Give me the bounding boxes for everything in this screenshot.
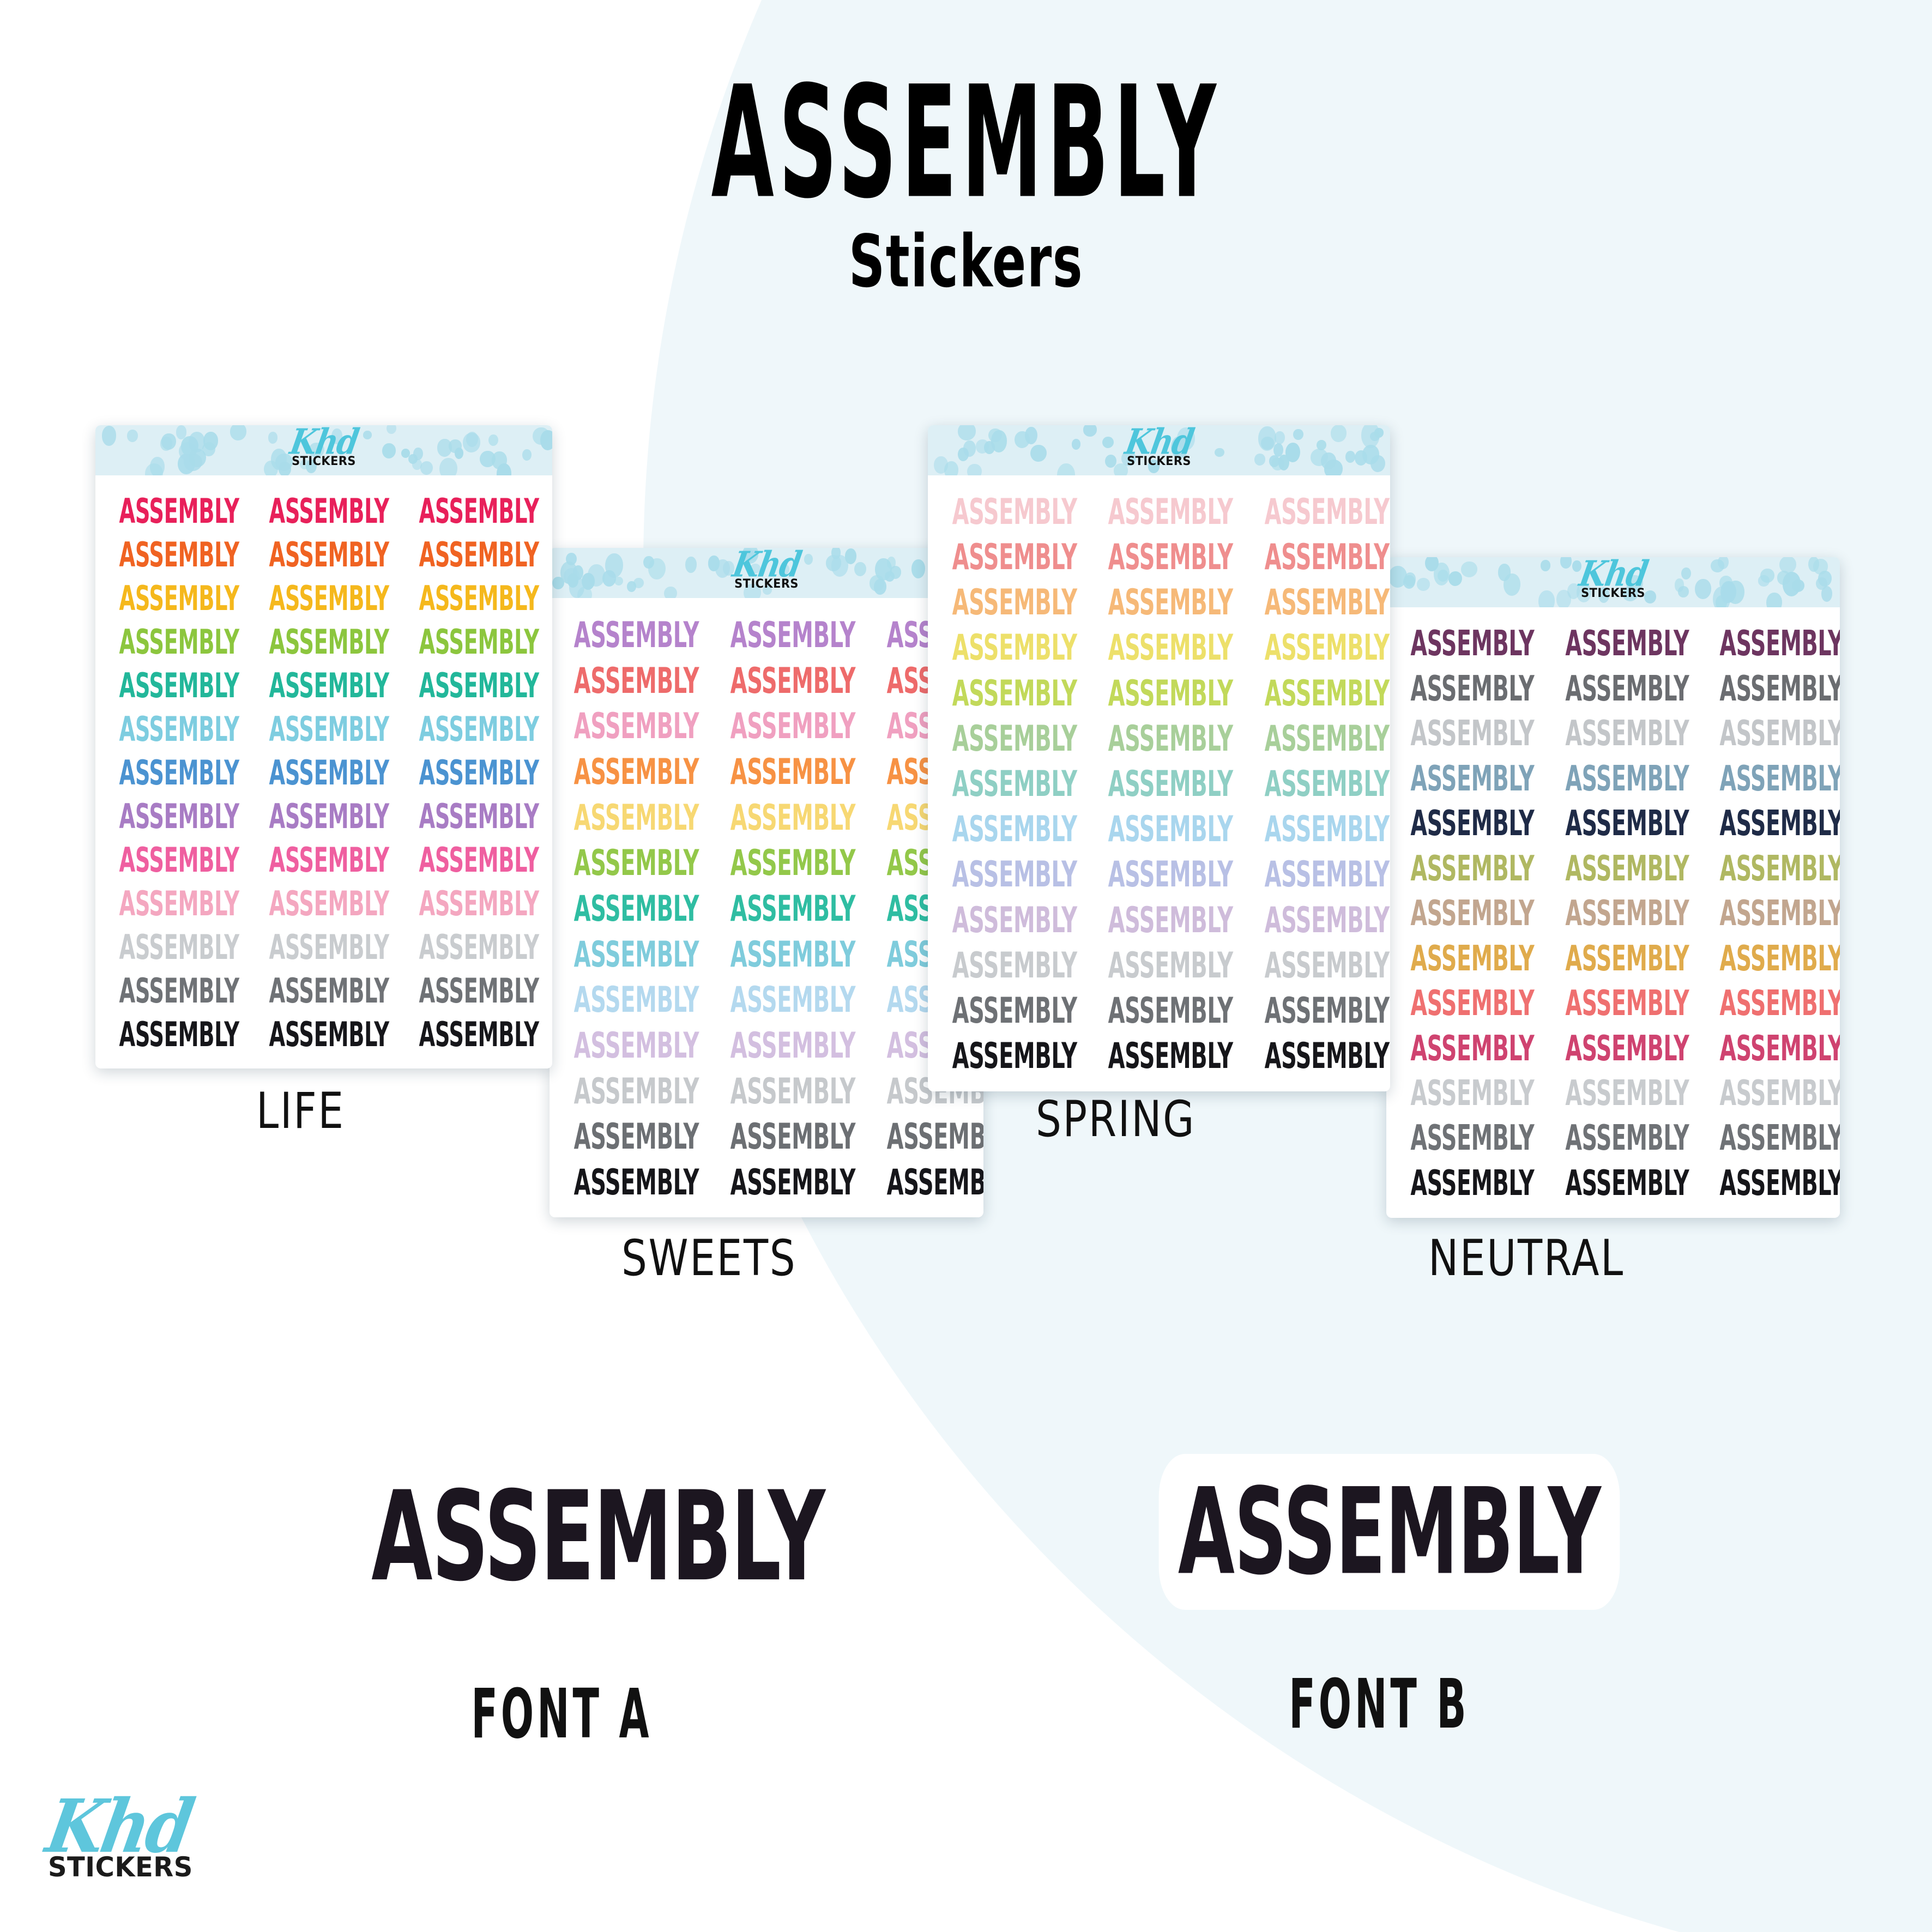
dot-decoration bbox=[685, 557, 697, 573]
sticker-label[interactable]: ASSEMBLY bbox=[1720, 986, 1840, 1021]
dot-decoration bbox=[1254, 454, 1265, 466]
dot-decoration bbox=[230, 425, 247, 440]
sticker-label[interactable]: ASSEMBLY bbox=[419, 494, 539, 528]
dot-decoration bbox=[984, 441, 995, 454]
sticker-label[interactable]: ASSEMBLY bbox=[1720, 1166, 1840, 1200]
sticker-label[interactable]: ASSEMBLY bbox=[1410, 672, 1534, 707]
sticker-label[interactable]: ASSEMBLY bbox=[952, 948, 1077, 983]
sticker-sheet-spring[interactable]: KhdSTICKERSASSEMBLYASSEMBLYASSEMBLYASSEM… bbox=[928, 425, 1390, 1091]
sticker-label[interactable]: ASSEMBLY bbox=[952, 1039, 1077, 1074]
sticker-label[interactable]: ASSEMBLY bbox=[119, 974, 239, 1008]
sticker-label[interactable]: ASSEMBLY bbox=[1410, 1166, 1534, 1200]
dot-decoration bbox=[189, 432, 205, 452]
sticker-label[interactable]: ASSEMBLY bbox=[119, 582, 239, 615]
sticker-label[interactable]: ASSEMBLY bbox=[1264, 903, 1389, 938]
sheet-sticker-grid: ASSEMBLYASSEMBLYASSEMBLYASSEMBLYASSEMBLY… bbox=[95, 475, 552, 1068]
sticker-row-periwinkle[interactable]: ASSEMBLYASSEMBLYASSEMBLYASSEMBLY bbox=[937, 853, 1381, 898]
sticker-label[interactable]: ASSEMBLY bbox=[419, 843, 539, 877]
brand-wordmark: STICKERS bbox=[48, 1851, 193, 1883]
sticker-row-aqua[interactable]: ASSEMBLYASSEMBLYASSEMBLYASSEMBLY bbox=[558, 932, 975, 977]
sticker-row-taupe[interactable]: ASSEMBLYASSEMBLYASSEMBLYASSEMBLY bbox=[1395, 891, 1831, 936]
dot-decoration bbox=[1777, 571, 1791, 585]
sticker-label[interactable]: ASSEMBLY bbox=[1108, 721, 1233, 757]
sticker-label[interactable]: ASSEMBLY bbox=[574, 1119, 699, 1155]
sticker-label[interactable]: ASSEMBLY bbox=[730, 709, 855, 744]
dot-decoration bbox=[1102, 437, 1114, 448]
sticker-row-berry[interactable]: ASSEMBLYASSEMBLYASSEMBLYASSEMBLY bbox=[1395, 1026, 1831, 1071]
sticker-label[interactable]: ASSEMBLY bbox=[1565, 941, 1689, 976]
sticker-label[interactable]: ASSEMBLY bbox=[574, 617, 699, 653]
dot-decoration bbox=[1678, 586, 1689, 597]
dot-decoration bbox=[437, 439, 452, 457]
sticker-label[interactable]: ASSEMBLY bbox=[269, 931, 389, 964]
sticker-label[interactable]: ASSEMBLY bbox=[1108, 903, 1233, 938]
sticker-row-spring-green[interactable]: ASSEMBLYASSEMBLYASSEMBLYASSEMBLY bbox=[937, 671, 1381, 716]
sticker-label[interactable]: ASSEMBLY bbox=[1565, 851, 1689, 886]
dot-decoration bbox=[1275, 431, 1285, 444]
sticker-label[interactable]: ASSEMBLY bbox=[119, 625, 239, 659]
sticker-label[interactable]: ASSEMBLY bbox=[1720, 941, 1840, 976]
sticker-label[interactable]: ASSEMBLY bbox=[730, 1119, 855, 1155]
sticker-label[interactable]: ASSEMBLY bbox=[1108, 1039, 1233, 1074]
sticker-label[interactable]: ASSEMBLY bbox=[1720, 1076, 1840, 1111]
dot-decoration bbox=[605, 553, 623, 578]
sticker-label[interactable]: ASSEMBLY bbox=[1565, 986, 1689, 1021]
dot-decoration bbox=[911, 559, 925, 578]
sticker-label[interactable]: ASSEMBLY bbox=[1410, 806, 1534, 841]
sticker-row-plum[interactable]: ASSEMBLYASSEMBLYASSEMBLYASSEMBLY bbox=[1395, 621, 1831, 666]
dot-decoration bbox=[1681, 567, 1690, 579]
sticker-row-mint[interactable]: ASSEMBLYASSEMBLYASSEMBLYASSEMBLY bbox=[937, 762, 1381, 807]
sticker-label[interactable]: ASSEMBLY bbox=[1410, 1031, 1534, 1066]
sticker-row-violet[interactable]: ASSEMBLYASSEMBLYASSEMBLYASSEMBLY bbox=[104, 795, 544, 838]
sticker-label[interactable]: ASSEMBLY bbox=[1720, 1121, 1840, 1156]
sticker-label[interactable]: ASSEMBLY bbox=[1565, 896, 1689, 931]
sheet-caption-spring: SPRING bbox=[1036, 1090, 1196, 1148]
sticker-label[interactable]: ASSEMBLY bbox=[419, 974, 539, 1008]
dot-decoration bbox=[1030, 445, 1046, 462]
sticker-label[interactable]: ASSEMBLY bbox=[1108, 994, 1233, 1029]
sticker-label[interactable]: ASSEMBLY bbox=[952, 676, 1077, 711]
dot-decoration bbox=[741, 548, 754, 562]
sticker-label[interactable]: ASSEMBLY bbox=[1720, 1031, 1840, 1066]
sticker-label[interactable]: ASSEMBLY bbox=[119, 494, 239, 528]
dot-decoration bbox=[488, 434, 498, 446]
dot-decoration bbox=[1560, 557, 1572, 569]
sticker-row-wisteria[interactable]: ASSEMBLYASSEMBLYASSEMBLYASSEMBLY bbox=[937, 898, 1381, 943]
sticker-label[interactable]: ASSEMBLY bbox=[730, 800, 855, 835]
sticker-label[interactable]: ASSEMBLY bbox=[1108, 540, 1233, 575]
sticker-row-black[interactable]: ASSEMBLYASSEMBLYASSEMBLYASSEMBLY bbox=[558, 1160, 975, 1205]
sticker-label[interactable]: ASSEMBLY bbox=[269, 1018, 389, 1052]
sticker-row-pink[interactable]: ASSEMBLYASSEMBLYASSEMBLYASSEMBLY bbox=[104, 838, 544, 882]
sticker-label[interactable]: ASSEMBLY bbox=[730, 617, 855, 653]
sticker-sheet-life[interactable]: KhdSTICKERSASSEMBLYASSEMBLYASSEMBLYASSEM… bbox=[95, 425, 552, 1068]
sticker-label[interactable]: ASSEMBLY bbox=[1410, 986, 1534, 1021]
sticker-label[interactable]: ASSEMBLY bbox=[574, 754, 699, 789]
dot-decoration bbox=[845, 548, 856, 564]
sticker-label[interactable]: ASSEMBLY bbox=[730, 1073, 855, 1109]
dot-decoration bbox=[387, 425, 396, 434]
dot-decoration bbox=[967, 464, 982, 475]
sticker-label[interactable]: ASSEMBLY bbox=[1720, 626, 1840, 661]
dot-decoration bbox=[455, 448, 463, 460]
dot-decoration bbox=[1766, 593, 1782, 607]
sheet-header-band: KhdSTICKERS bbox=[1386, 557, 1840, 607]
poster-header: ASSEMBLY Stickers bbox=[0, 65, 1932, 294]
sticker-label[interactable]: ASSEMBLY bbox=[730, 1028, 855, 1064]
sticker-label[interactable]: ASSEMBLY bbox=[1565, 1031, 1689, 1066]
dot-decoration bbox=[763, 585, 772, 595]
sticker-label[interactable]: ASSEMBLY bbox=[119, 1018, 239, 1052]
sticker-label[interactable]: ASSEMBLY bbox=[1720, 716, 1840, 751]
sticker-row-mid-gray[interactable]: ASSEMBLYASSEMBLYASSEMBLYASSEMBLY bbox=[937, 988, 1381, 1034]
sticker-row-charcoal[interactable]: ASSEMBLYASSEMBLYASSEMBLYASSEMBLY bbox=[1395, 666, 1831, 711]
sticker-label[interactable]: ASSEMBLY bbox=[419, 1018, 539, 1052]
sheet-header-band: KhdSTICKERS bbox=[550, 548, 983, 598]
sticker-label[interactable]: ASSEMBLY bbox=[419, 713, 539, 746]
sticker-row-black[interactable]: ASSEMBLYASSEMBLYASSEMBLYASSEMBLY bbox=[937, 1034, 1381, 1079]
sticker-row-coral-red[interactable]: ASSEMBLYASSEMBLYASSEMBLYASSEMBLY bbox=[558, 658, 975, 704]
sticker-row-salmon[interactable]: ASSEMBLYASSEMBLYASSEMBLYASSEMBLY bbox=[937, 535, 1381, 580]
sticker-label[interactable]: ASSEMBLY bbox=[574, 663, 699, 698]
sticker-label[interactable]: ASSEMBLY bbox=[1410, 1121, 1534, 1156]
sticker-label[interactable]: ASSEMBLY bbox=[952, 721, 1077, 757]
sticker-label[interactable]: ASSEMBLY bbox=[269, 669, 389, 703]
sheet-header-band: KhdSTICKERS bbox=[95, 425, 552, 475]
sticker-row-orchid[interactable]: ASSEMBLYASSEMBLYASSEMBLYASSEMBLY bbox=[558, 612, 975, 658]
sticker-label[interactable]: ASSEMBLY bbox=[269, 887, 389, 921]
dot-decoration bbox=[1448, 571, 1462, 586]
sticker-label[interactable]: ASSEMBLY bbox=[952, 540, 1077, 575]
sticker-row-crimson[interactable]: ASSEMBLYASSEMBLYASSEMBLYASSEMBLY bbox=[104, 490, 544, 533]
sticker-label[interactable]: ASSEMBLY bbox=[1720, 806, 1840, 841]
sticker-label[interactable]: ASSEMBLY bbox=[419, 887, 539, 921]
dot-decoration bbox=[723, 561, 734, 576]
dot-decoration bbox=[1331, 425, 1347, 442]
dot-decoration bbox=[569, 577, 584, 597]
sticker-label[interactable]: ASSEMBLY bbox=[574, 800, 699, 835]
sticker-label[interactable]: ASSEMBLY bbox=[574, 982, 699, 1018]
sticker-label[interactable]: ASSEMBLY bbox=[1565, 1166, 1689, 1200]
sticker-label[interactable]: ASSEMBLY bbox=[419, 582, 539, 615]
sticker-label[interactable]: ASSEMBLY bbox=[269, 625, 389, 659]
sticker-row-slate-gray[interactable]: ASSEMBLYASSEMBLYASSEMBLYASSEMBLY bbox=[558, 1114, 975, 1160]
dot-decoration bbox=[1626, 575, 1643, 591]
brand-wordmark: STICKERS bbox=[1398, 587, 1828, 600]
dot-decoration bbox=[1215, 448, 1224, 457]
sticker-label[interactable]: ASSEMBLY bbox=[730, 891, 855, 926]
sticker-row-pale-gray[interactable]: ASSEMBLYASSEMBLYASSEMBLYASSEMBLY bbox=[1395, 1071, 1831, 1116]
dot-decoration bbox=[1792, 579, 1805, 592]
dot-decoration bbox=[127, 430, 138, 442]
sticker-row-amber[interactable]: ASSEMBLYASSEMBLYASSEMBLYASSEMBLY bbox=[104, 577, 544, 620]
sticker-label[interactable]: ASSEMBLY bbox=[730, 937, 855, 972]
sheet-caption-sweets: SWEETS bbox=[621, 1229, 796, 1287]
sticker-label[interactable]: ASSEMBLY bbox=[1264, 1039, 1389, 1074]
sticker-sheet-neutral[interactable]: KhdSTICKERSASSEMBLYASSEMBLYASSEMBLYASSEM… bbox=[1386, 557, 1840, 1218]
sticker-label[interactable]: ASSEMBLY bbox=[574, 846, 699, 881]
sticker-row-butter[interactable]: ASSEMBLYASSEMBLYASSEMBLYASSEMBLY bbox=[558, 795, 975, 841]
sticker-label[interactable]: ASSEMBLY bbox=[419, 756, 539, 790]
sticker-label[interactable]: ASSEMBLY bbox=[1264, 631, 1389, 666]
brand-script-logo: Khd bbox=[43, 1796, 196, 1858]
sticker-row-navy[interactable]: ASSEMBLYASSEMBLYASSEMBLYASSEMBLY bbox=[1395, 801, 1831, 846]
dot-decoration bbox=[1598, 587, 1610, 603]
sticker-label[interactable]: ASSEMBLY bbox=[1264, 585, 1389, 621]
dot-decoration bbox=[664, 587, 677, 598]
dot-decoration bbox=[804, 554, 813, 565]
sticker-row-sage[interactable]: ASSEMBLYASSEMBLYASSEMBLYASSEMBLY bbox=[937, 716, 1381, 762]
sheet-sticker-grid: ASSEMBLYASSEMBLYASSEMBLYASSEMBLYASSEMBLY… bbox=[928, 475, 1390, 1091]
sticker-row-baby-blue[interactable]: ASSEMBLYASSEMBLYASSEMBLYASSEMBLY bbox=[937, 807, 1381, 853]
dot-decoration bbox=[1808, 557, 1819, 572]
sticker-label[interactable]: ASSEMBLY bbox=[419, 538, 539, 572]
sticker-label[interactable]: ASSEMBLY bbox=[1410, 716, 1534, 751]
sticker-label[interactable]: ASSEMBLY bbox=[952, 631, 1077, 666]
dot-decoration bbox=[1171, 436, 1188, 458]
sticker-label[interactable]: ASSEMBLY bbox=[119, 931, 239, 964]
sticker-row-ash[interactable]: ASSEMBLYASSEMBLYASSEMBLYASSEMBLY bbox=[1395, 711, 1831, 756]
sticker-label[interactable]: ASSEMBLY bbox=[952, 766, 1077, 802]
dot-decoration bbox=[958, 425, 976, 440]
sticker-row-blue[interactable]: ASSEMBLYASSEMBLYASSEMBLYASSEMBLY bbox=[104, 751, 544, 795]
sticker-row-mustard[interactable]: ASSEMBLYASSEMBLYASSEMBLYASSEMBLY bbox=[1395, 936, 1831, 981]
sticker-label[interactable]: ASSEMBLY bbox=[1720, 672, 1840, 707]
sticker-label[interactable]: ASSEMBLY bbox=[269, 800, 389, 834]
sticker-label[interactable]: ASSEMBLY bbox=[1565, 1076, 1689, 1111]
sticker-label[interactable]: ASSEMBLY bbox=[1720, 851, 1840, 886]
sticker-label[interactable]: ASSEMBLY bbox=[1565, 672, 1689, 707]
sheet-header-band: KhdSTICKERS bbox=[928, 425, 1390, 475]
sticker-label[interactable]: ASSEMBLY bbox=[1565, 1121, 1689, 1156]
dot-decoration bbox=[1498, 564, 1511, 581]
dot-decoration bbox=[268, 432, 277, 443]
sticker-label[interactable]: ASSEMBLY bbox=[1264, 812, 1389, 848]
sticker-label[interactable]: ASSEMBLY bbox=[574, 1028, 699, 1064]
dot-decoration bbox=[1355, 450, 1367, 466]
sheet-sticker-grid: ASSEMBLYASSEMBLYASSEMBLYASSEMBLYASSEMBLY… bbox=[550, 598, 983, 1217]
sticker-row-tangerine[interactable]: ASSEMBLYASSEMBLYASSEMBLYASSEMBLY bbox=[558, 749, 975, 795]
sticker-label[interactable]: ASSEMBLY bbox=[886, 1119, 983, 1155]
sticker-label[interactable]: ASSEMBLY bbox=[730, 846, 855, 881]
sticker-label[interactable]: ASSEMBLY bbox=[1108, 948, 1233, 983]
dot-decoration bbox=[744, 584, 761, 598]
sticker-label[interactable]: ASSEMBLY bbox=[119, 669, 239, 703]
sticker-row-orange[interactable]: ASSEMBLYASSEMBLYASSEMBLYASSEMBLY bbox=[104, 533, 544, 577]
sticker-label[interactable]: ASSEMBLY bbox=[1410, 626, 1534, 661]
sticker-row-peach[interactable]: ASSEMBLYASSEMBLYASSEMBLYASSEMBLY bbox=[937, 580, 1381, 625]
dot-decoration bbox=[1538, 590, 1555, 607]
dot-decoration bbox=[540, 430, 552, 450]
dot-decoration bbox=[1572, 560, 1581, 572]
sticker-row-gray[interactable]: ASSEMBLYASSEMBLYASSEMBLYASSEMBLY bbox=[104, 969, 544, 1013]
sticker-label[interactable]: ASSEMBLY bbox=[1108, 585, 1233, 621]
dot-decoration bbox=[1718, 557, 1729, 569]
sticker-label[interactable]: ASSEMBLY bbox=[952, 585, 1077, 621]
dot-decoration bbox=[279, 462, 291, 475]
sheet-caption-neutral: NEUTRAL bbox=[1428, 1229, 1625, 1287]
page-title: ASSEMBLY bbox=[367, 65, 1565, 220]
sticker-label[interactable]: ASSEMBLY bbox=[419, 625, 539, 659]
sticker-label[interactable]: ASSEMBLY bbox=[419, 931, 539, 964]
sticker-row-lemon[interactable]: ASSEMBLYASSEMBLYASSEMBLYASSEMBLY bbox=[937, 626, 1381, 671]
sticker-row-black[interactable]: ASSEMBLYASSEMBLYASSEMBLYASSEMBLY bbox=[104, 1013, 544, 1056]
dot-decoration bbox=[1105, 455, 1116, 468]
brand-wordmark: STICKERS bbox=[107, 455, 541, 468]
sticker-label[interactable]: ASSEMBLY bbox=[269, 974, 389, 1008]
sticker-label[interactable]: ASSEMBLY bbox=[1410, 761, 1534, 796]
sticker-row-powder-blue[interactable]: ASSEMBLYASSEMBLYASSEMBLYASSEMBLY bbox=[558, 977, 975, 1023]
dot-decoration bbox=[781, 564, 789, 575]
sticker-label[interactable]: ASSEMBLY bbox=[1565, 806, 1689, 841]
sticker-row-teal[interactable]: ASSEMBLYASSEMBLYASSEMBLYASSEMBLY bbox=[104, 664, 544, 708]
sticker-label[interactable]: ASSEMBLY bbox=[419, 800, 539, 834]
sticker-label[interactable]: ASSEMBLY bbox=[952, 858, 1077, 893]
sticker-label[interactable]: ASSEMBLY bbox=[119, 887, 239, 921]
sticker-label[interactable]: ASSEMBLY bbox=[730, 1165, 855, 1200]
sticker-label[interactable]: ASSEMBLY bbox=[730, 982, 855, 1018]
sticker-label[interactable]: ASSEMBLY bbox=[1410, 941, 1534, 976]
sticker-label[interactable]: ASSEMBLY bbox=[1108, 676, 1233, 711]
dot-decoration bbox=[1374, 428, 1384, 437]
sticker-label[interactable]: ASSEMBLY bbox=[119, 538, 239, 572]
sticker-label[interactable]: ASSEMBLY bbox=[1108, 631, 1233, 666]
dot-decoration bbox=[1293, 429, 1303, 440]
sticker-label[interactable]: ASSEMBLY bbox=[574, 709, 699, 744]
sticker-label[interactable]: ASSEMBLY bbox=[1264, 676, 1389, 711]
sticker-row-lilac[interactable]: ASSEMBLYASSEMBLYASSEMBLYASSEMBLY bbox=[558, 1023, 975, 1068]
sticker-label[interactable]: ASSEMBLY bbox=[1264, 721, 1389, 757]
sticker-label[interactable]: ASSEMBLY bbox=[574, 1165, 699, 1200]
sticker-row-silver[interactable]: ASSEMBLYASSEMBLYASSEMBLYASSEMBLY bbox=[104, 926, 544, 969]
sticker-label[interactable]: ASSEMBLY bbox=[269, 494, 389, 528]
sticker-row-apple[interactable]: ASSEMBLYASSEMBLYASSEMBLYASSEMBLY bbox=[558, 840, 975, 886]
sticker-label[interactable]: ASSEMBLY bbox=[419, 669, 539, 703]
sticker-label[interactable]: ASSEMBLY bbox=[1565, 761, 1689, 796]
sticker-label[interactable]: ASSEMBLY bbox=[952, 812, 1077, 848]
sticker-label[interactable]: ASSEMBLY bbox=[119, 800, 239, 834]
sticker-label[interactable]: ASSEMBLY bbox=[119, 843, 239, 877]
sticker-label[interactable]: ASSEMBLY bbox=[1108, 812, 1233, 848]
poster-canvas: ASSEMBLY Stickers KhdSTICKERSASSEMBLYASS… bbox=[0, 0, 1932, 1932]
sticker-label[interactable]: ASSEMBLY bbox=[1108, 494, 1233, 530]
font-sample-a: ASSEMBLY FONT A bbox=[283, 1472, 840, 1744]
dot-decoration bbox=[1818, 571, 1832, 587]
sticker-row-light-gray[interactable]: ASSEMBLYASSEMBLYASSEMBLYASSEMBLY bbox=[937, 943, 1381, 988]
dot-decoration bbox=[750, 564, 760, 573]
dot-decoration bbox=[1321, 452, 1336, 469]
dot-decoration bbox=[408, 454, 418, 464]
sticker-row-steel-blue[interactable]: ASSEMBLYASSEMBLYASSEMBLYASSEMBLY bbox=[1395, 756, 1831, 801]
dot-decoration bbox=[1541, 560, 1551, 571]
sticker-label[interactable]: ASSEMBLY bbox=[886, 1165, 983, 1200]
sticker-label[interactable]: ASSEMBLY bbox=[1410, 896, 1534, 931]
dot-decoration bbox=[1713, 587, 1730, 607]
sticker-row-jade[interactable]: ASSEMBLYASSEMBLYASSEMBLYASSEMBLY bbox=[558, 886, 975, 932]
sticker-label[interactable]: ASSEMBLY bbox=[1565, 626, 1689, 661]
dot-decoration bbox=[1404, 572, 1416, 587]
sticker-label[interactable]: ASSEMBLY bbox=[1410, 851, 1534, 886]
sticker-label[interactable]: ASSEMBLY bbox=[119, 713, 239, 746]
font-sample-a-word: ASSEMBLY bbox=[353, 1458, 843, 1616]
sticker-row-black[interactable]: ASSEMBLYASSEMBLYASSEMBLYASSEMBLY bbox=[1395, 1161, 1831, 1205]
font-sample-b: ASSEMBLY FONT B bbox=[1101, 1472, 1657, 1735]
sticker-row-lime[interactable]: ASSEMBLYASSEMBLYASSEMBLYASSEMBLY bbox=[104, 620, 544, 664]
sticker-label[interactable]: ASSEMBLY bbox=[1410, 1076, 1534, 1111]
sticker-label[interactable]: ASSEMBLY bbox=[574, 891, 699, 926]
page-subtitle: Stickers bbox=[213, 219, 1719, 304]
dot-decoration bbox=[102, 426, 116, 446]
dot-decoration bbox=[874, 579, 886, 595]
font-sample-b-label: FONT B bbox=[1289, 1664, 1469, 1744]
sticker-row-bubblegum[interactable]: ASSEMBLYASSEMBLYASSEMBLYASSEMBLY bbox=[558, 703, 975, 749]
dot-decoration bbox=[1695, 579, 1711, 599]
dot-decoration bbox=[1261, 437, 1275, 450]
dot-decoration bbox=[1285, 443, 1300, 462]
dot-decoration bbox=[300, 460, 309, 469]
sticker-sheet-sweets[interactable]: KhdSTICKERSASSEMBLYASSEMBLYASSEMBLYASSEM… bbox=[550, 548, 983, 1217]
sticker-label[interactable]: ASSEMBLY bbox=[952, 994, 1077, 1029]
font-sample-a-label: FONT A bbox=[471, 1674, 652, 1754]
sticker-label[interactable]: ASSEMBLY bbox=[119, 756, 239, 790]
sticker-label[interactable]: ASSEMBLY bbox=[1264, 858, 1389, 893]
sticker-row-pale-gray[interactable]: ASSEMBLYASSEMBLYASSEMBLYASSEMBLY bbox=[558, 1068, 975, 1114]
sticker-row-olive[interactable]: ASSEMBLYASSEMBLYASSEMBLYASSEMBLY bbox=[1395, 846, 1831, 891]
sticker-label[interactable]: ASSEMBLY bbox=[1720, 761, 1840, 796]
sticker-label[interactable]: ASSEMBLY bbox=[1264, 766, 1389, 802]
dot-decoration bbox=[1057, 463, 1075, 475]
sticker-label[interactable]: ASSEMBLY bbox=[1720, 896, 1840, 931]
dot-decoration bbox=[420, 461, 433, 475]
sticker-label[interactable]: ASSEMBLY bbox=[269, 582, 389, 615]
sticker-label[interactable]: ASSEMBLY bbox=[269, 713, 389, 746]
sticker-label[interactable]: ASSEMBLY bbox=[574, 1073, 699, 1109]
sticker-label[interactable]: ASSEMBLY bbox=[730, 754, 855, 789]
sticker-row-coral[interactable]: ASSEMBLYASSEMBLYASSEMBLYASSEMBLY bbox=[1395, 981, 1831, 1026]
sticker-row-rose[interactable]: ASSEMBLYASSEMBLYASSEMBLYASSEMBLY bbox=[104, 882, 544, 926]
sticker-label[interactable]: ASSEMBLY bbox=[574, 937, 699, 972]
dot-decoration bbox=[1438, 570, 1448, 582]
sticker-row-gray[interactable]: ASSEMBLYASSEMBLYASSEMBLYASSEMBLY bbox=[1395, 1116, 1831, 1161]
sticker-row-blush[interactable]: ASSEMBLYASSEMBLYASSEMBLYASSEMBLY bbox=[937, 490, 1381, 535]
font-sample-b-word: ASSEMBLY bbox=[1159, 1454, 1620, 1610]
dot-decoration bbox=[1015, 431, 1030, 448]
brand-script-logo: Khd bbox=[287, 426, 360, 458]
dot-decoration bbox=[150, 457, 165, 475]
sticker-label[interactable]: ASSEMBLY bbox=[952, 903, 1077, 938]
dot-decoration bbox=[963, 440, 976, 457]
sticker-row-sky[interactable]: ASSEMBLYASSEMBLYASSEMBLYASSEMBLY bbox=[104, 708, 544, 751]
sticker-label[interactable]: ASSEMBLY bbox=[269, 843, 389, 877]
dot-decoration bbox=[176, 425, 186, 439]
dot-decoration bbox=[1644, 590, 1656, 603]
sticker-label[interactable]: ASSEMBLY bbox=[1108, 858, 1233, 893]
sticker-label[interactable]: ASSEMBLY bbox=[269, 756, 389, 790]
sticker-label[interactable]: ASSEMBLY bbox=[1264, 494, 1389, 530]
dot-decoration bbox=[1072, 439, 1081, 450]
sticker-label[interactable]: ASSEMBLY bbox=[952, 494, 1077, 530]
sticker-label[interactable]: ASSEMBLY bbox=[1264, 948, 1389, 983]
sticker-label[interactable]: ASSEMBLY bbox=[730, 663, 855, 698]
dot-decoration bbox=[1821, 586, 1832, 602]
sticker-label[interactable]: ASSEMBLY bbox=[1108, 766, 1233, 802]
sticker-label[interactable]: ASSEMBLY bbox=[1264, 994, 1389, 1029]
sticker-label[interactable]: ASSEMBLY bbox=[1565, 716, 1689, 751]
sticker-label[interactable]: ASSEMBLY bbox=[1264, 540, 1389, 575]
sticker-label[interactable]: ASSEMBLY bbox=[269, 538, 389, 572]
dot-decoration bbox=[1758, 575, 1770, 587]
